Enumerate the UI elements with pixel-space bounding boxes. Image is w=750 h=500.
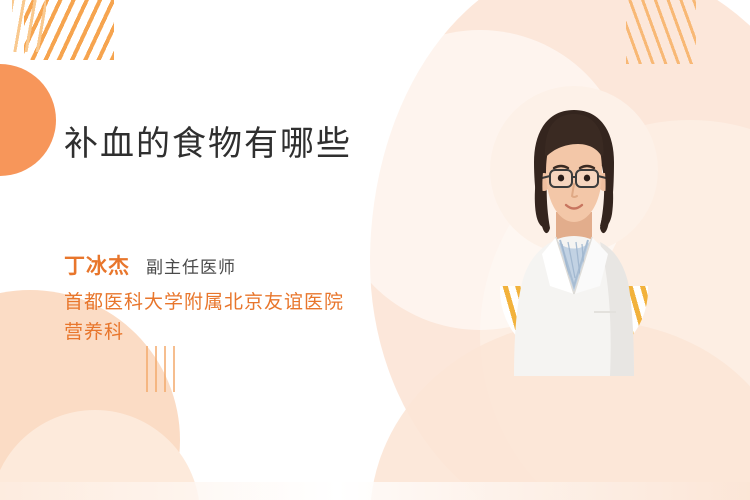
doctor-rank: 副主任医师 [146, 253, 236, 278]
doctor-name-row: 丁冰杰 副主任医师 [64, 250, 236, 280]
bottom-gradient-strip-decor [0, 482, 750, 500]
thin-stripes-top-left-decor [12, 0, 46, 52]
doctor-department: 营养科 [64, 317, 124, 344]
vertical-stripes-bottom-left-decor [146, 346, 180, 392]
doctor-hospital: 首都医科大学附属北京友谊医院 [64, 288, 344, 317]
page-title: 补血的食物有哪些 [64, 116, 352, 165]
doctor-portrait [490, 86, 658, 376]
portrait-illustration [490, 86, 658, 376]
orange-circle-decor [0, 64, 56, 176]
doctor-info-card: 补血的食物有哪些 丁冰杰 副主任医师 首都医科大学附属北京友谊医院 营养科 [0, 0, 750, 500]
diagonal-stripes-top-right-decor [626, 0, 696, 64]
doctor-name: 丁冰杰 [64, 250, 130, 280]
